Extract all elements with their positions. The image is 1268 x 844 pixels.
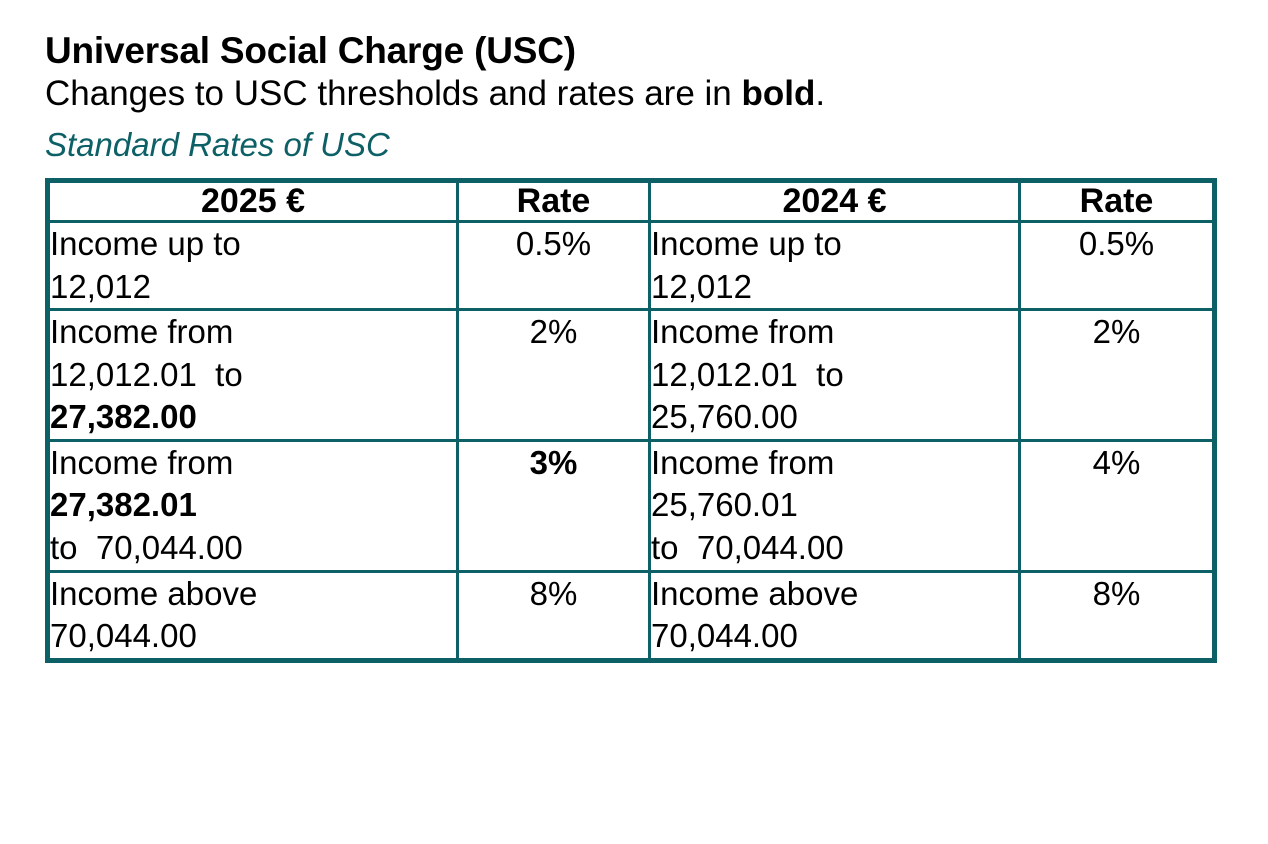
cell-2025-band-line: Income up to	[50, 223, 456, 266]
subtitle-prefix: Changes to USC thresholds and rates are …	[45, 74, 742, 113]
rates-table-container: 2025 € Rate 2024 € Rate Income up to12,0…	[45, 178, 1217, 663]
cell-2024-band-line: Income from	[651, 311, 1018, 354]
cell-2025-band: Income from27,382.01to 70,044.00	[48, 440, 458, 571]
subtitle-bold-word: bold	[742, 74, 816, 113]
cell-2024-band-line: 25,760.01	[651, 484, 1018, 527]
cell-2024-band-line: 70,044.00	[651, 615, 1018, 658]
cell-2024-band-line: Income above	[651, 573, 1018, 616]
cell-2025-band-line: 27,382.00	[50, 396, 456, 439]
cell-2025-band-line: Income from	[50, 442, 456, 485]
cell-2025-band-line: 27,382.01	[50, 484, 456, 527]
cell-2024-band: Income from25,760.01to 70,044.00	[650, 440, 1020, 571]
column-header-2025-rate: Rate	[458, 180, 650, 221]
cell-2025-band-line: to 70,044.00	[50, 527, 456, 570]
heading-block: Universal Social Charge (USC) Changes to…	[0, 0, 1268, 164]
subtitle-suffix: .	[815, 74, 825, 113]
cell-2024-band-line: 12,012.01 to	[651, 354, 1018, 397]
table-header-row: 2025 € Rate 2024 € Rate	[48, 180, 1215, 221]
cell-2025-rate: 2%	[458, 310, 650, 441]
cell-2024-band-line: to 70,044.00	[651, 527, 1018, 570]
cell-2024-rate: 2%	[1020, 310, 1215, 441]
table-row: Income from12,012.01 to27,382.002%Income…	[48, 310, 1215, 441]
table-header: 2025 € Rate 2024 € Rate	[48, 180, 1215, 221]
column-header-2024-rate: Rate	[1020, 180, 1215, 221]
section-title: Standard Rates of USC	[45, 126, 1268, 164]
standard-rates-table: 2025 € Rate 2024 € Rate Income up to12,0…	[45, 178, 1217, 663]
cell-2024-rate: 8%	[1020, 571, 1215, 660]
cell-2024-band-line: 12,012	[651, 266, 1018, 309]
table-body: Income up to12,0120.5%Income up to12,012…	[48, 222, 1215, 661]
cell-2025-band-line: 12,012	[50, 266, 456, 309]
cell-2025-band: Income up to12,012	[48, 222, 458, 310]
cell-2025-band-line: 12,012.01 to	[50, 354, 456, 397]
document-page: Universal Social Charge (USC) Changes to…	[0, 0, 1268, 844]
cell-2024-band: Income from12,012.01 to25,760.00	[650, 310, 1020, 441]
subtitle-note: Changes to USC thresholds and rates are …	[45, 74, 1268, 114]
table-row: Income from27,382.01to 70,044.003%Income…	[48, 440, 1215, 571]
cell-2024-band-line: Income from	[651, 442, 1018, 485]
cell-2024-rate: 4%	[1020, 440, 1215, 571]
cell-2025-band: Income from12,012.01 to27,382.00	[48, 310, 458, 441]
cell-2025-band: Income above70,044.00	[48, 571, 458, 660]
page-title: Universal Social Charge (USC)	[45, 30, 1268, 71]
cell-2025-rate: 0.5%	[458, 222, 650, 310]
cell-2025-rate: 8%	[458, 571, 650, 660]
cell-2025-band-line: Income from	[50, 311, 456, 354]
cell-2024-band: Income up to12,012	[650, 222, 1020, 310]
cell-2025-rate: 3%	[458, 440, 650, 571]
cell-2024-band-line: Income up to	[651, 223, 1018, 266]
table-row: Income above70,044.008%Income above70,04…	[48, 571, 1215, 660]
cell-2025-band-line: 70,044.00	[50, 615, 456, 658]
cell-2024-band-line: 25,760.00	[651, 396, 1018, 439]
column-header-2024-amount: 2024 €	[650, 180, 1020, 221]
cell-2024-band: Income above70,044.00	[650, 571, 1020, 660]
cell-2024-rate: 0.5%	[1020, 222, 1215, 310]
column-header-2025-amount: 2025 €	[48, 180, 458, 221]
cell-2025-band-line: Income above	[50, 573, 456, 616]
table-row: Income up to12,0120.5%Income up to12,012…	[48, 222, 1215, 310]
